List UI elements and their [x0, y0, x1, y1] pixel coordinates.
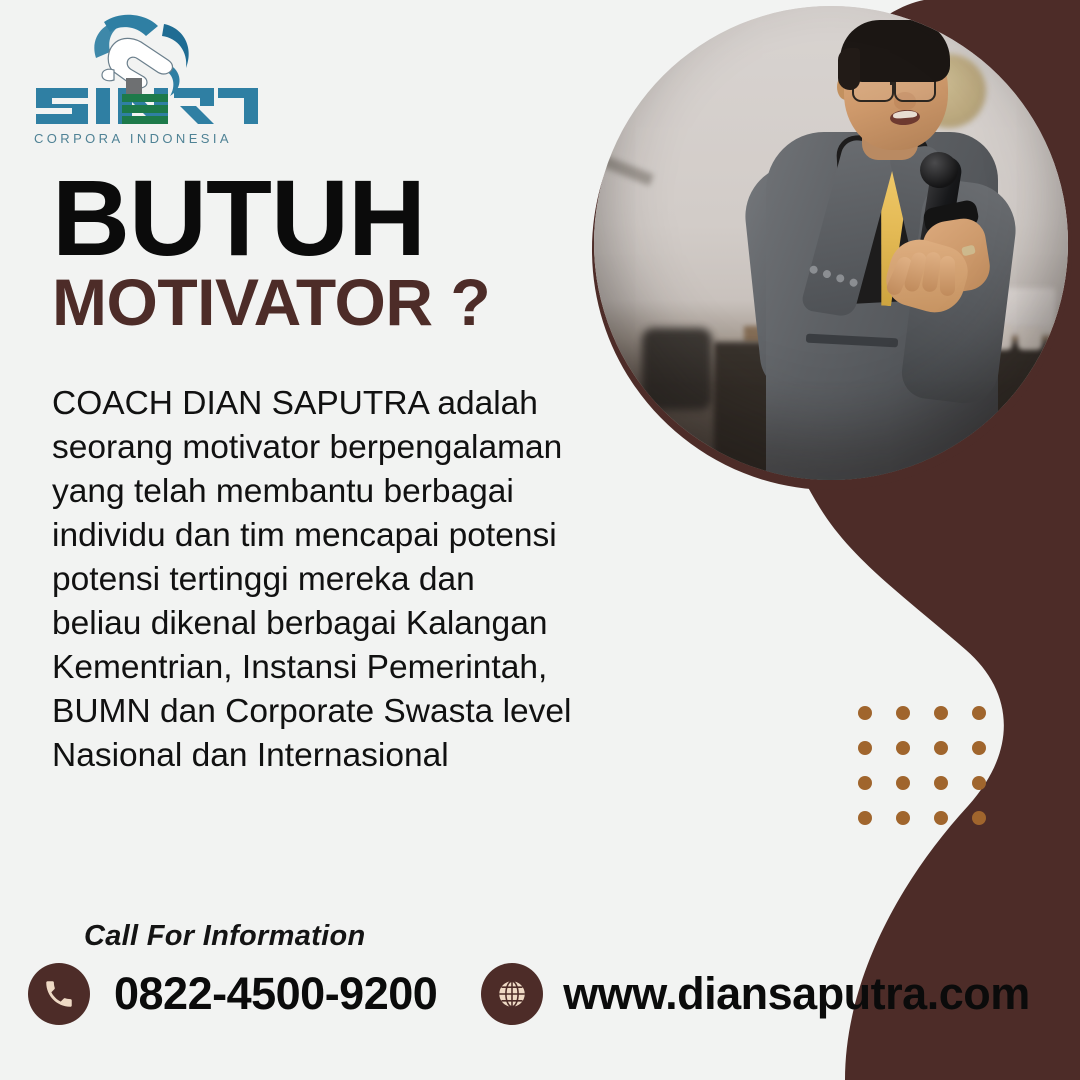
body-paragraph: COACH DIAN SAPUTRA adalah seorang motiva… [52, 382, 572, 778]
eyeglasses-bridge [890, 82, 896, 85]
headline-line-1: BUTUH [52, 168, 612, 267]
phone-number[interactable]: 0822-4500-9200 [114, 968, 437, 1020]
phone-icon[interactable] [28, 963, 90, 1025]
finger-4 [940, 256, 955, 296]
speaker-figure [594, 6, 1068, 480]
poster-canvas: CORPORA INDONESIA BUTUH MOTIVATOR ? COAC… [0, 0, 1080, 1080]
contact-bar: 0822-4500-9200 www.diansaputra.com [28, 963, 1030, 1025]
logo-tagline: CORPORA INDONESIA [34, 131, 232, 146]
headline: BUTUH MOTIVATOR ? [52, 168, 612, 335]
website-url[interactable]: www.diansaputra.com [563, 968, 1029, 1020]
sinergi-logo: CORPORA INDONESIA [18, 12, 268, 150]
speaker-photo [594, 6, 1068, 480]
dot-grid-decoration [858, 706, 1010, 846]
globe-icon[interactable] [481, 963, 543, 1025]
headline-line-2: MOTIVATOR ? [52, 269, 612, 335]
hair-sideburn [838, 48, 860, 90]
call-for-information-label: Call For Information [84, 920, 366, 953]
